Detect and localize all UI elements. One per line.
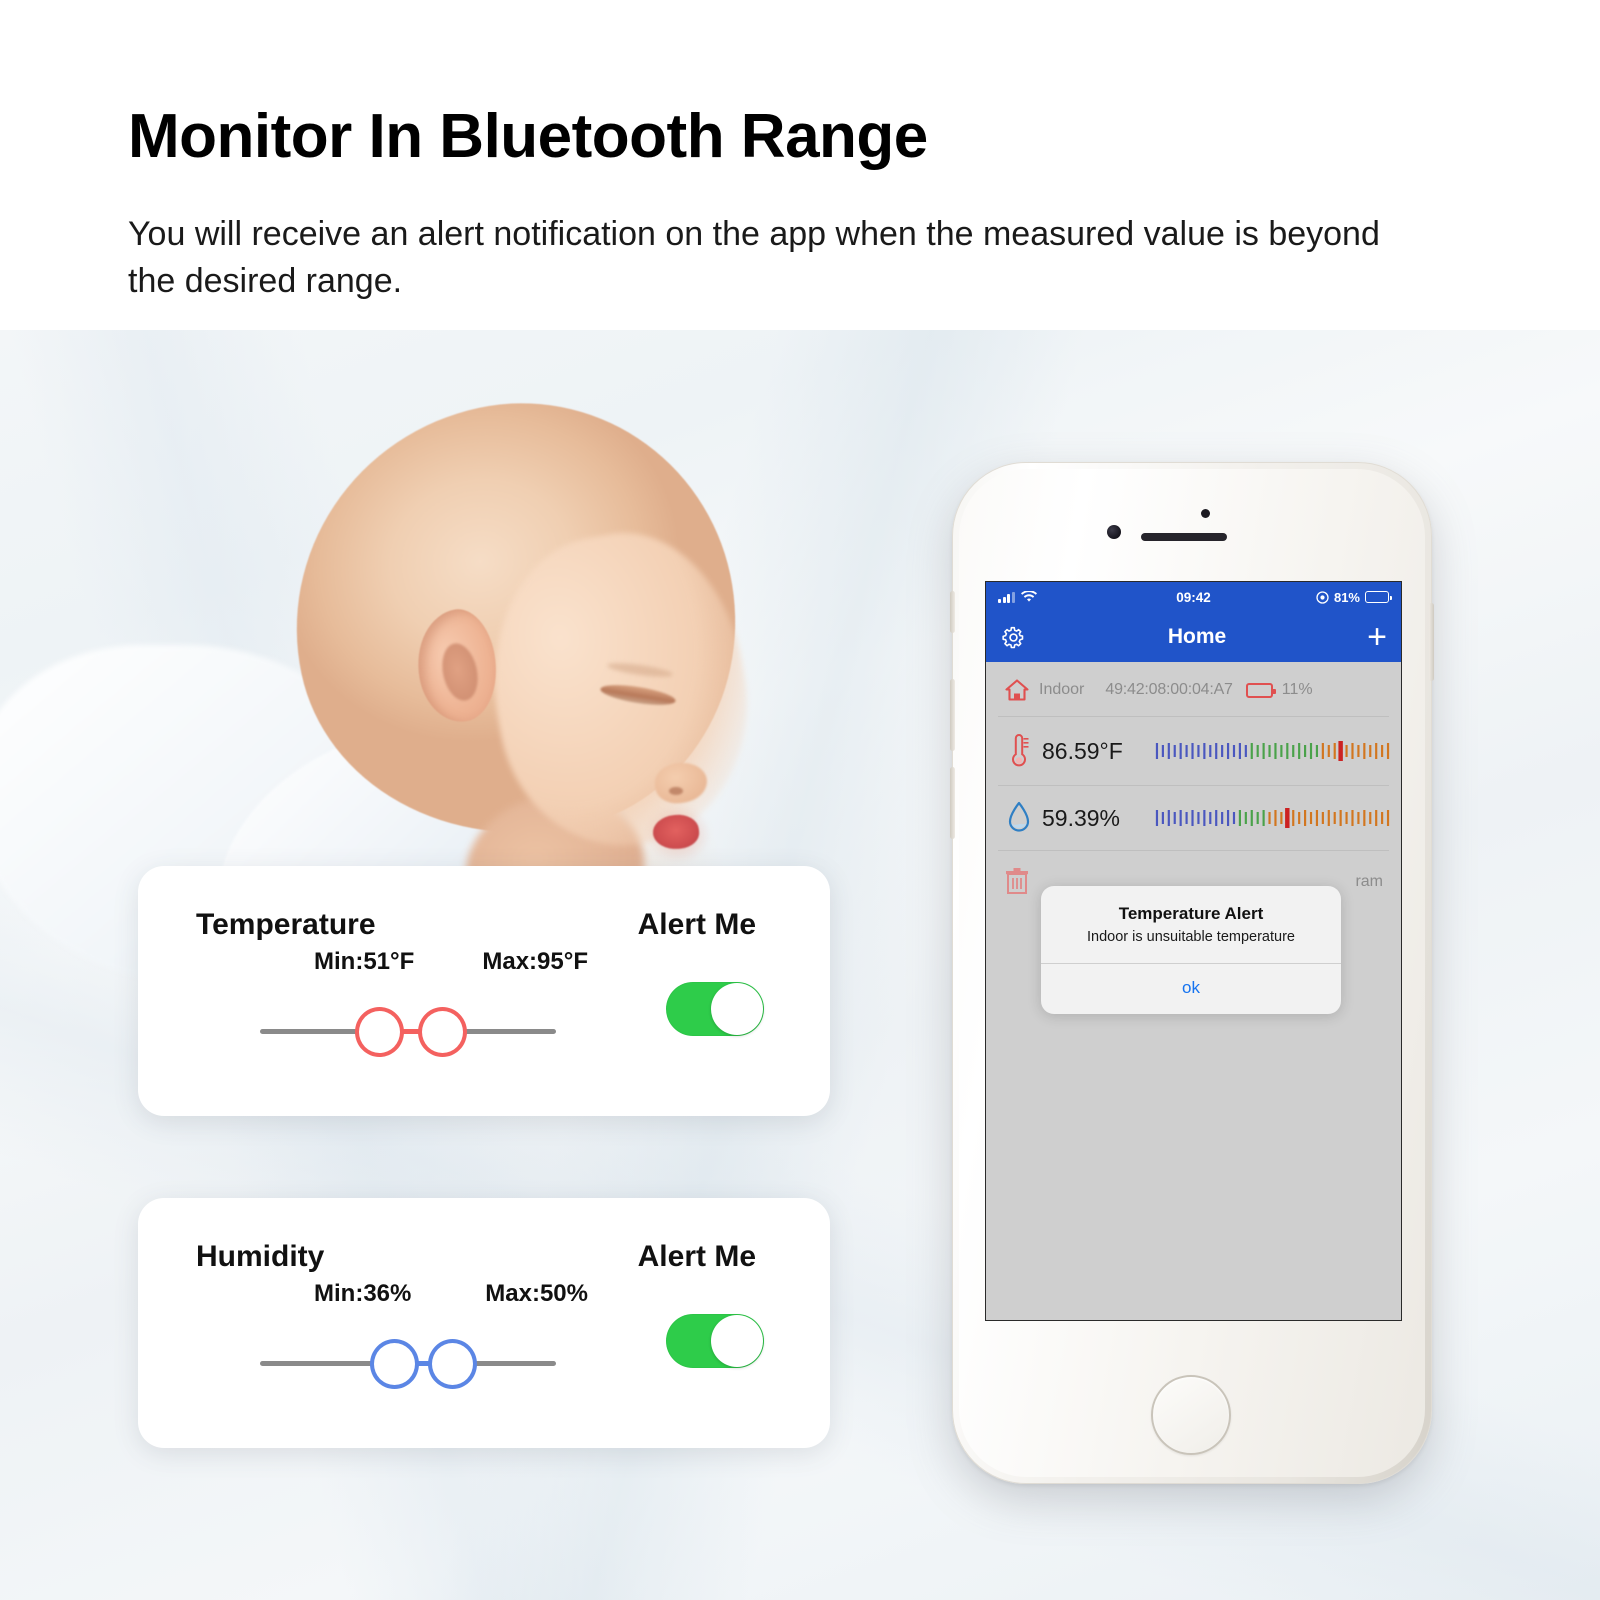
status-battery-percent: 81%	[1334, 590, 1360, 605]
baby-brow	[607, 660, 674, 679]
humidity-min-handle[interactable]	[370, 1339, 419, 1389]
earpiece-speaker	[1141, 533, 1227, 541]
baby-nose	[654, 761, 709, 805]
baby-mouth	[651, 813, 700, 852]
status-bar-right: 81%	[1316, 590, 1389, 605]
page-subtitle: You will receive an alert notification o…	[128, 211, 1418, 305]
humidity-min-label: Min:36%	[314, 1280, 411, 1308]
temperature-max-label: Max:95°F	[482, 948, 588, 976]
temperature-min-handle[interactable]	[355, 1007, 404, 1057]
temperature-toggle-knob[interactable]	[711, 983, 763, 1035]
humidity-max-handle[interactable]	[428, 1339, 477, 1389]
temperature-alert-toggle[interactable]	[666, 982, 764, 1036]
temperature-alert-card: Temperature Alert Me Min:51°F Max:95°F	[138, 866, 830, 1116]
humidity-range-slider[interactable]	[260, 1338, 556, 1388]
temperature-range-slider[interactable]	[260, 1006, 556, 1056]
volume-down-button[interactable]	[950, 767, 955, 839]
plus-icon[interactable]: +	[1367, 620, 1387, 654]
humidity-card-body: Min:36% Max:50%	[138, 1280, 830, 1388]
humidity-alert-me-label: Alert Me	[638, 1240, 756, 1274]
status-bar: 09:42 81%	[986, 582, 1401, 612]
navbar-title: Home	[1168, 625, 1226, 649]
header-block: Monitor In Bluetooth Range You will rece…	[128, 104, 1458, 305]
baby-ear	[409, 604, 505, 728]
humidity-max-label: Max:50%	[485, 1280, 588, 1308]
temperature-card-body: Min:51°F Max:95°F	[138, 948, 830, 1056]
alert-overlay: Temperature Alert Indoor is unsuitable t…	[986, 662, 1401, 1321]
humidity-card-title: Humidity	[196, 1240, 324, 1274]
baby-nostril	[669, 787, 683, 795]
temperature-max-handle[interactable]	[418, 1007, 467, 1057]
baby-eye	[599, 681, 677, 709]
battery-icon	[1365, 591, 1389, 603]
baby-lip-area	[645, 805, 711, 863]
alarm-icon	[1316, 591, 1329, 604]
alert-title: Temperature Alert	[1057, 904, 1325, 924]
alert-header: Temperature Alert Indoor is unsuitable t…	[1041, 886, 1341, 963]
alert-message: Indoor is unsuitable temperature	[1057, 929, 1325, 945]
mute-switch[interactable]	[950, 591, 955, 633]
temperature-toggle-column	[666, 948, 764, 1036]
temperature-slider-column: Min:51°F Max:95°F	[196, 948, 626, 1056]
front-camera	[1107, 525, 1121, 539]
temperature-card-header: Temperature Alert Me	[138, 866, 830, 942]
humidity-alert-card: Humidity Alert Me Min:36% Max:50%	[138, 1198, 830, 1448]
proximity-sensor	[1201, 509, 1210, 518]
baby-face	[470, 516, 770, 865]
alert-ok-button[interactable]: ok	[1041, 964, 1341, 1014]
power-button[interactable]	[1429, 603, 1434, 681]
humidity-slider-column: Min:36% Max:50%	[196, 1280, 626, 1388]
temperature-card-title: Temperature	[196, 908, 376, 942]
temperature-minmax: Min:51°F Max:95°F	[218, 948, 626, 976]
humidity-minmax: Min:36% Max:50%	[218, 1280, 626, 1308]
humidity-alert-toggle[interactable]	[666, 1314, 764, 1368]
humidity-card-header: Humidity Alert Me	[138, 1198, 830, 1274]
baby-ear-inner	[437, 640, 482, 704]
humidity-toggle-column	[666, 1280, 764, 1368]
humidity-toggle-knob[interactable]	[711, 1315, 763, 1367]
gear-icon[interactable]	[1000, 624, 1027, 651]
home-button[interactable]	[1151, 1375, 1231, 1455]
temperature-min-label: Min:51°F	[314, 948, 414, 976]
app-navbar: Home +	[986, 612, 1401, 662]
temperature-alert-me-label: Alert Me	[638, 908, 756, 942]
temperature-alert-dialog: Temperature Alert Indoor is unsuitable t…	[1041, 886, 1341, 1014]
page-title: Monitor In Bluetooth Range	[128, 104, 1458, 169]
baby-head	[255, 364, 775, 876]
app-content: Indoor 49:42:08:00:04:A7 11% 86.59°F	[986, 662, 1401, 1321]
volume-up-button[interactable]	[950, 679, 955, 751]
phone-screen: 09:42 81% Home +	[985, 581, 1402, 1321]
iphone-mockup: 09:42 81% Home +	[952, 462, 1432, 1484]
sleeping-baby-image	[255, 395, 815, 915]
